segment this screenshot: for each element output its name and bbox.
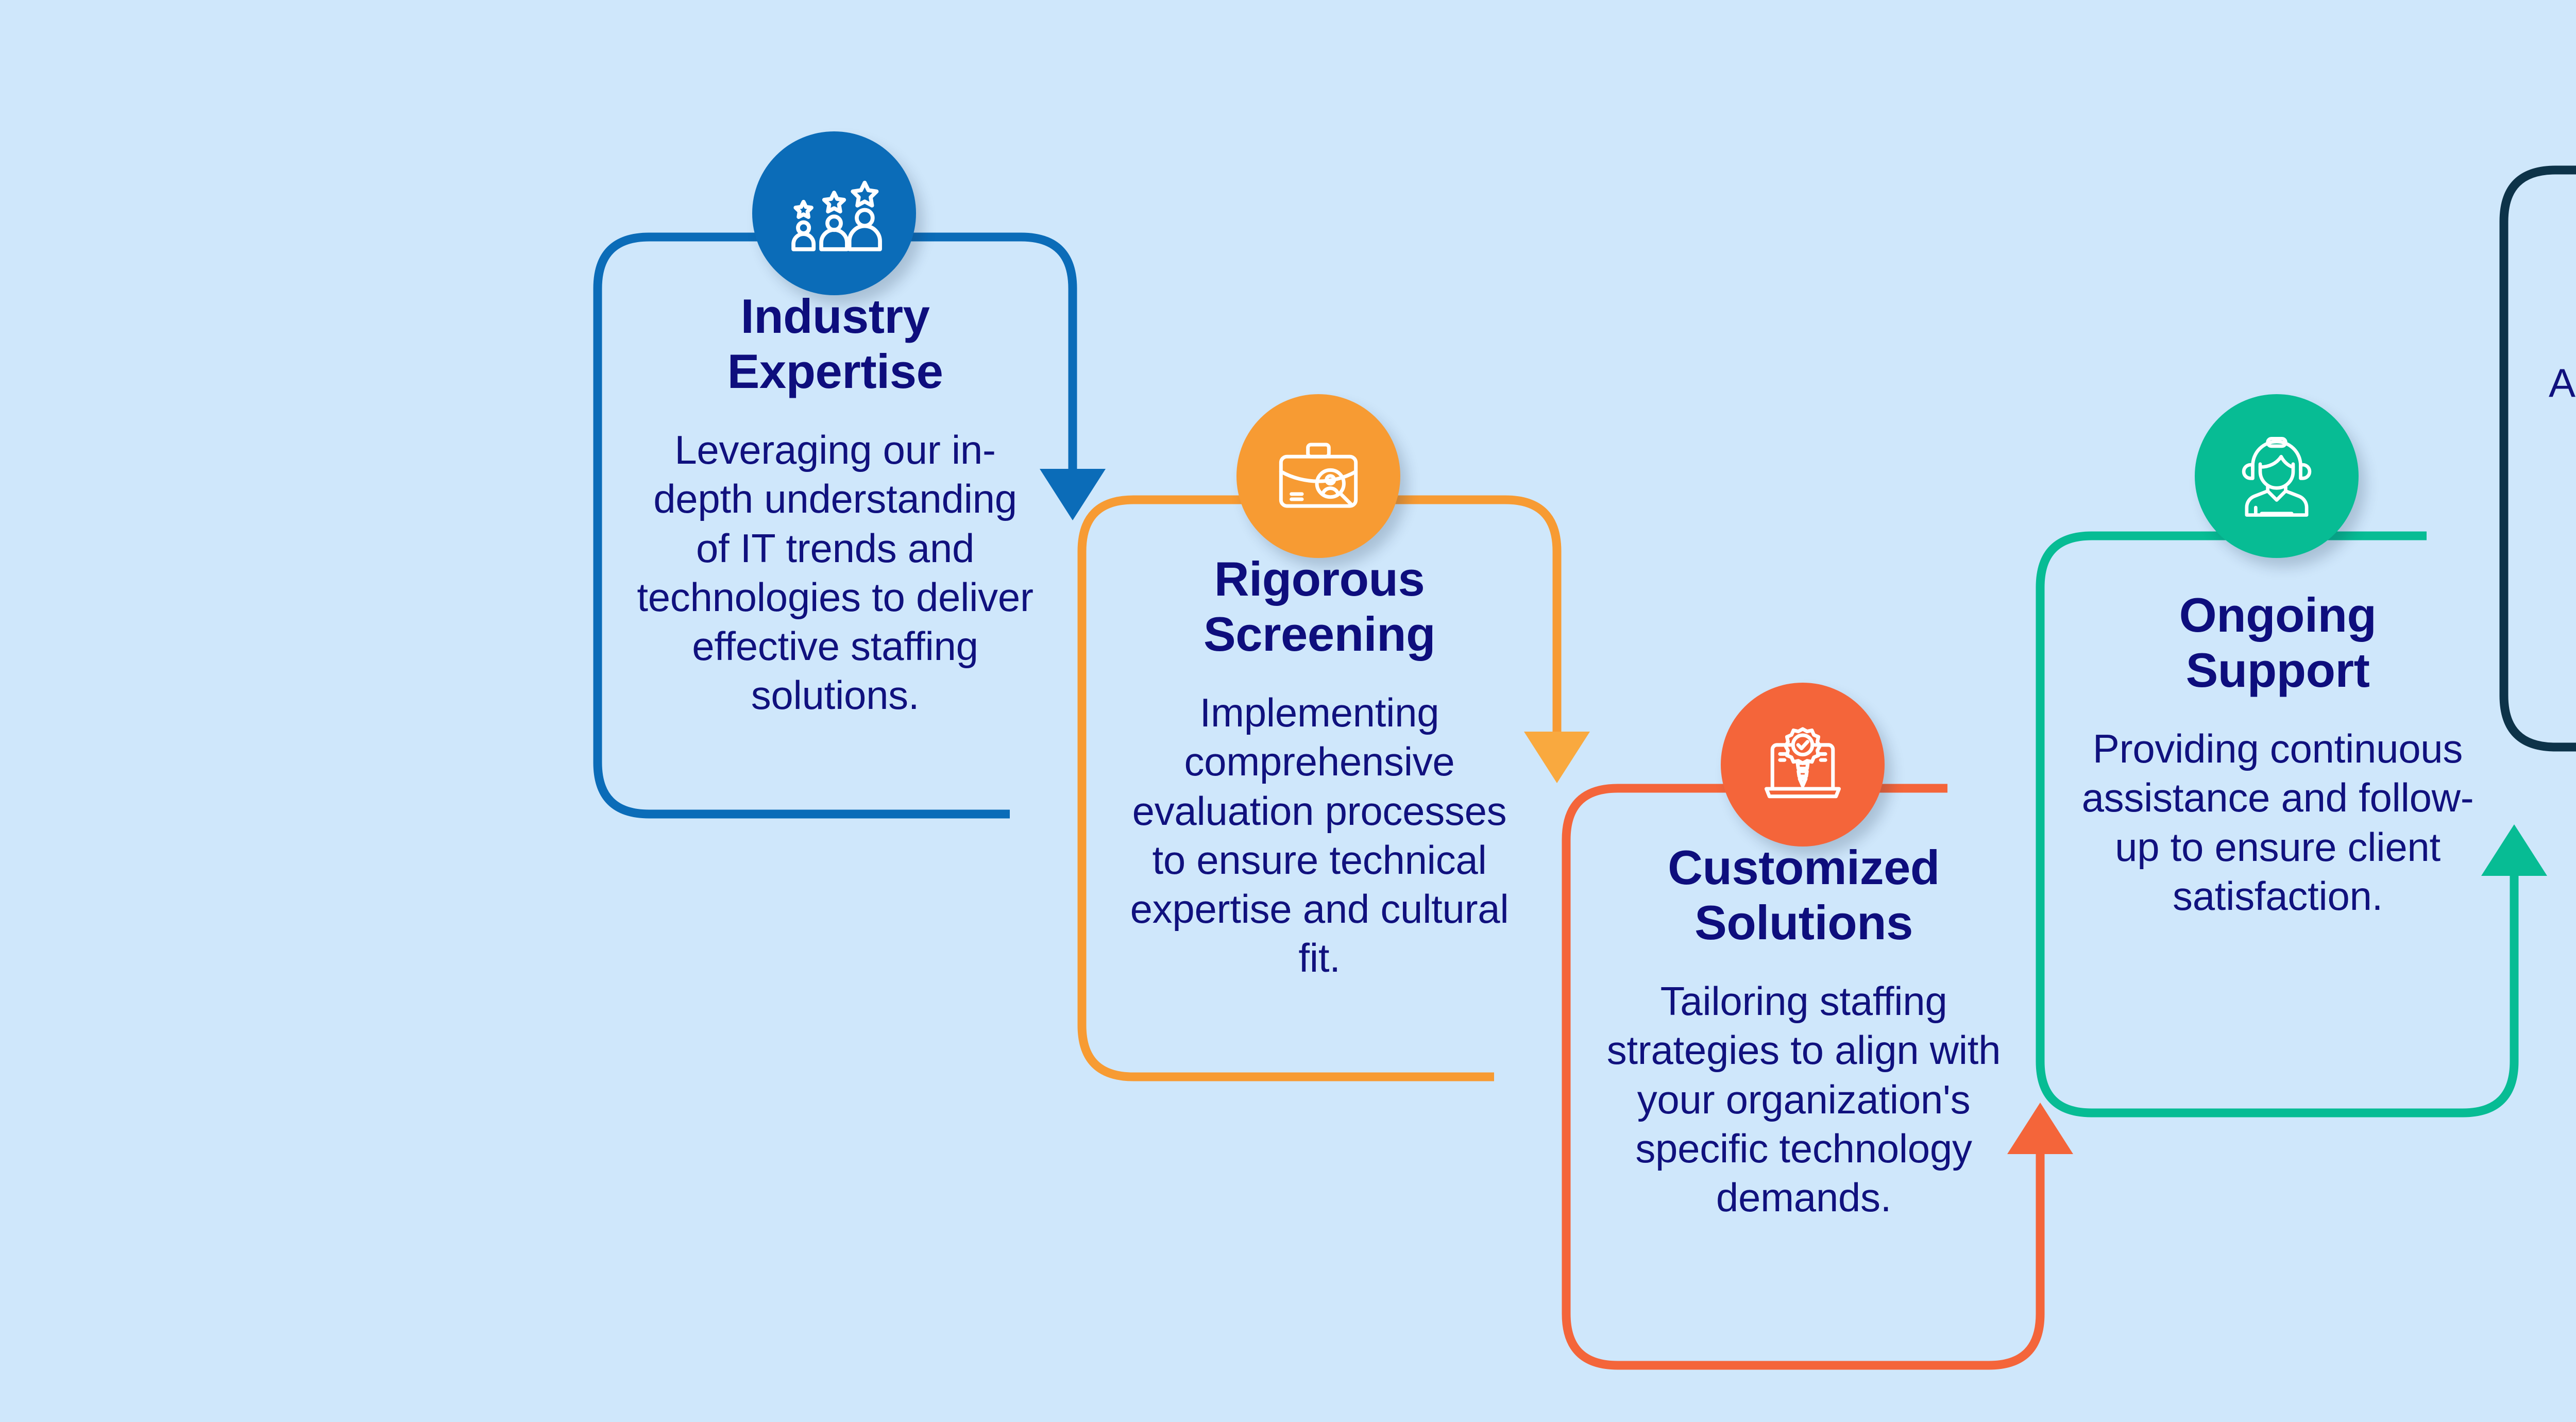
step-4-icon-badge[interactable] [2195,394,2359,558]
step-5-body: Accessing a vast pool of highly skilled … [2540,359,2576,505]
infographic-canvas: Industry Expertise Leveraging our in-dep… [0,0,2576,1422]
step-card-industry-expertise[interactable]: Industry Expertise Leveraging our in-dep… [598,242,1073,720]
step-3-title: Customized Solutions [1602,840,2005,950]
step-card-rigorous-screening[interactable]: Rigorous Screening Implementing comprehe… [1082,505,1557,983]
three-people-stars-icon [785,164,883,262]
step-1-title: Industry Expertise [634,289,1037,399]
briefcase-search-icon [1270,428,1366,524]
step-3-icon-badge[interactable] [1721,683,1885,847]
step-5-title: Broad Network [2540,222,2576,332]
step-3-body: Tailoring staffing strategies to align w… [1602,977,2005,1222]
step-card-ongoing-support[interactable]: Ongoing Support Providing continuous ass… [2040,541,2515,921]
step-2-body: Implementing comprehensive evaluation pr… [1118,688,1521,983]
headset-agent-icon [2229,428,2325,524]
step-4-title: Ongoing Support [2076,587,2479,698]
step-card-broad-network[interactable]: Broad Network Accessing a vast pool of h… [2504,175,2576,506]
step-2-icon-badge[interactable] [1236,394,1400,558]
step-1-body: Leveraging our in-depth understanding of… [634,426,1037,720]
step-card-customized-solutions[interactable]: Customized Solutions Tailoring staffing … [1566,793,2041,1222]
step-2-title: Rigorous Screening [1118,551,1521,662]
step-1-icon-badge[interactable] [752,131,916,295]
laptop-gear-check-icon [1754,716,1851,813]
step-4-body: Providing continuous assistance and foll… [2076,724,2479,921]
